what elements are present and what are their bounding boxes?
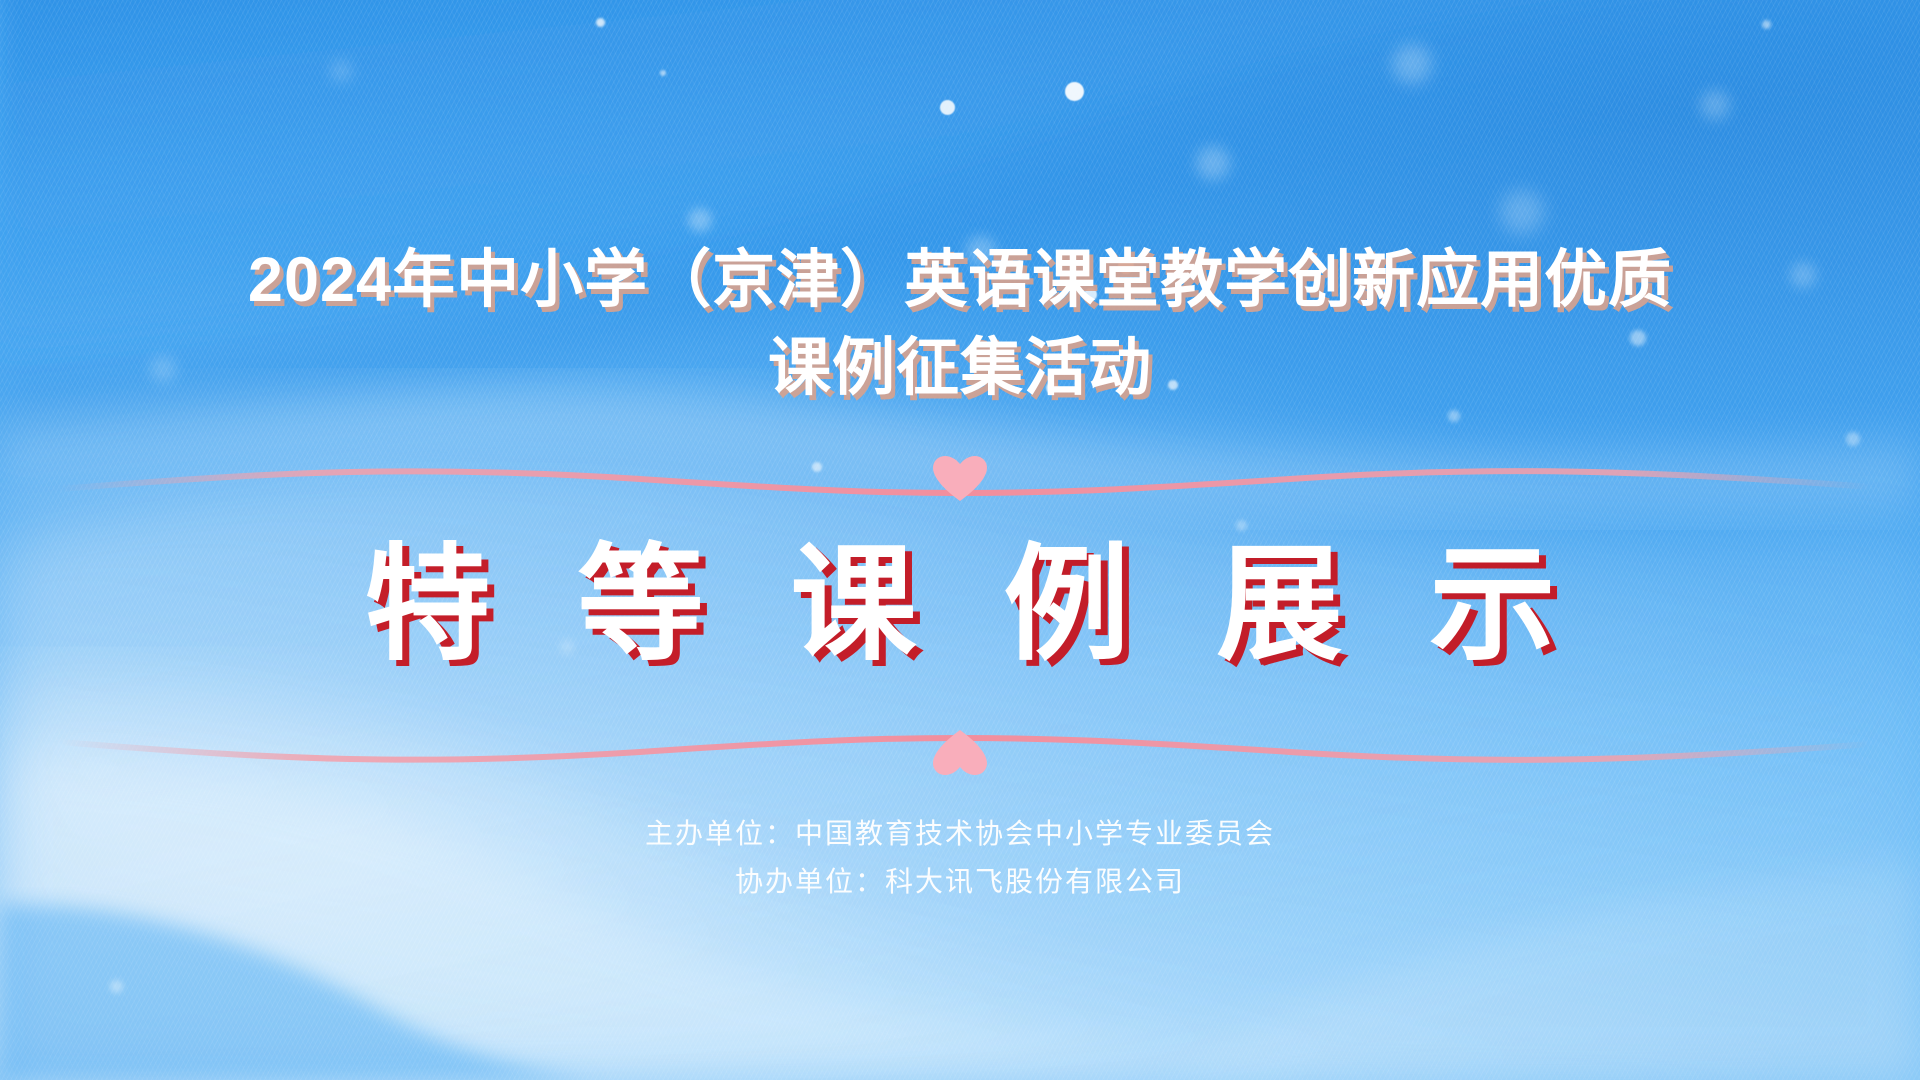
event-title-line-1: 2024年中小学（京津）英语课堂教学创新应用优质 [0, 236, 1920, 324]
event-title: 2024年中小学（京津）英语课堂教学创新应用优质 课例征集活动 [0, 236, 1920, 412]
organizer-line: 主办单位：中国教育技术协会中小学专业委员会 [0, 810, 1920, 858]
divider-bottom [0, 712, 1920, 782]
poster-stage: 2024年中小学（京津）英语课堂教学创新应用优质 课例征集活动 [0, 0, 1920, 1080]
divider-top [0, 445, 1920, 515]
organizer-info: 主办单位：中国教育技术协会中小学专业委员会 协办单位：科大讯飞股份有限公司 [0, 810, 1920, 906]
poster-content: 2024年中小学（京津）英语课堂教学创新应用优质 课例征集活动 [0, 0, 1920, 1080]
co-organizer-line: 协办单位：科大讯飞股份有限公司 [0, 858, 1920, 906]
heart-icon [933, 730, 987, 775]
heart-icon [933, 456, 987, 501]
event-title-line-2: 课例征集活动 [0, 324, 1920, 412]
headline: 特 等 课 例 展 示 [0, 530, 1920, 680]
